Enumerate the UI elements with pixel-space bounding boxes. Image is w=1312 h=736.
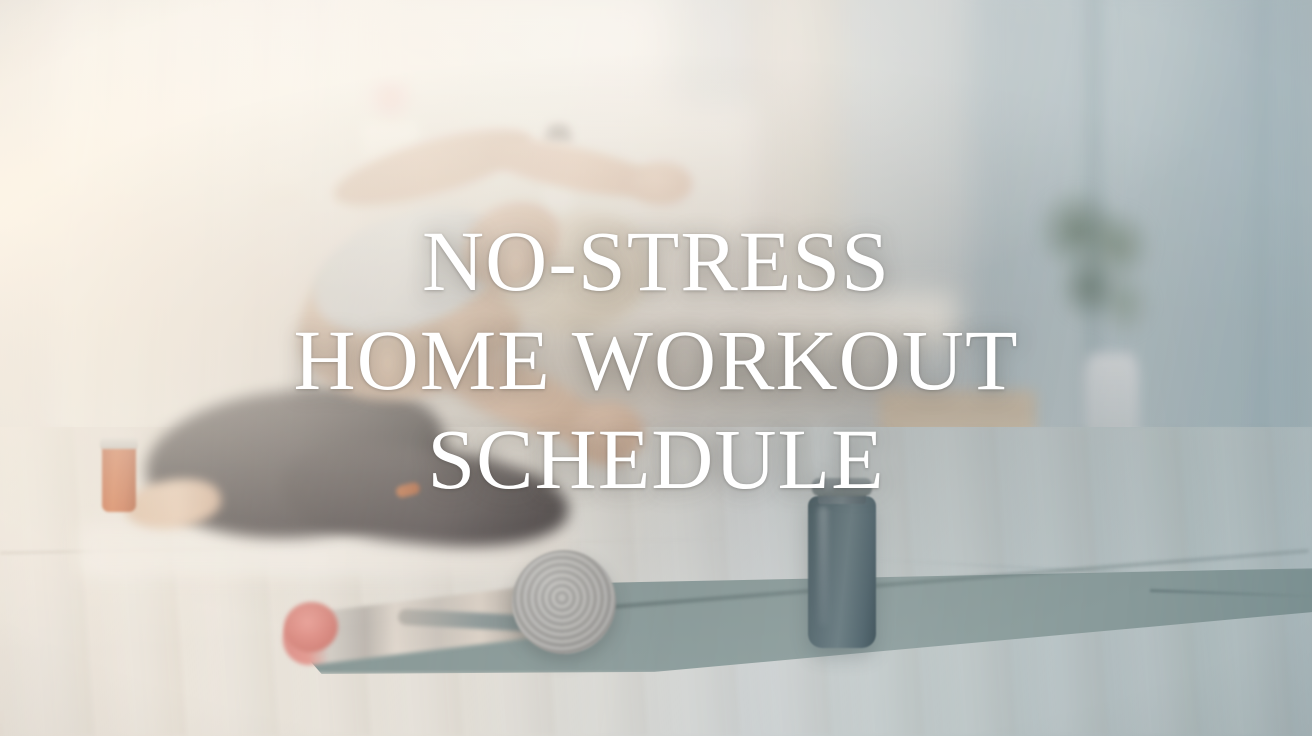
hero-banner: NO-STRESS HOME WORKOUT SCHEDULE: [0, 0, 1312, 736]
vignette: [0, 0, 1312, 736]
